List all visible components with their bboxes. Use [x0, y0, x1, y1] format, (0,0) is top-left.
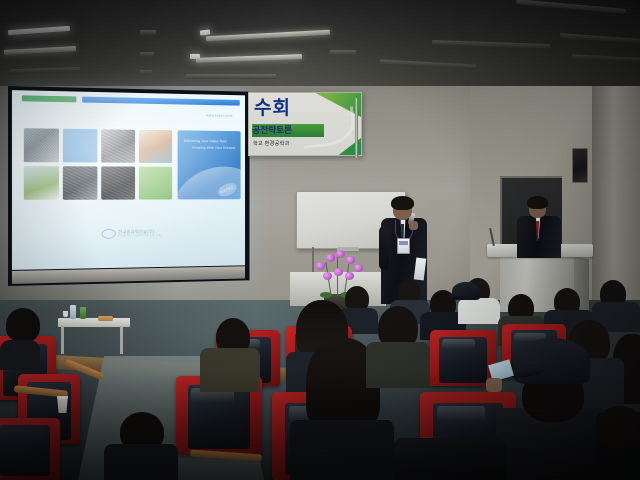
slide-thumbnail-grid: Delivering Your Value Now Growing With Y… [24, 128, 236, 202]
orchid-flower [345, 272, 354, 280]
seat-cushion [0, 425, 50, 476]
slide-tagline-text: Delivering Your Value Now Growing With Y… [184, 138, 235, 152]
projected-slide: www.kapec.com Delivering Your Value Now … [12, 90, 245, 270]
ceiling-light [516, 0, 626, 14]
presenter-hair [527, 196, 548, 209]
head-back [596, 406, 640, 448]
company-name-en: KOREA NUCLEAR FUEL CO., LTD. [118, 234, 162, 238]
ceiling-light [560, 33, 640, 44]
slide-thumbnail [139, 167, 172, 200]
slide-thumbnail [63, 129, 98, 163]
slide-thumbnail [24, 128, 59, 162]
slide-thumbnail [101, 129, 135, 162]
ceiling-light [10, 67, 80, 74]
name-badge [397, 238, 410, 254]
head-back [6, 308, 40, 342]
slide-band-green [22, 95, 77, 102]
wall-speaker [572, 148, 588, 183]
tagline-line-2: Growing With Your Dreams [192, 145, 235, 152]
ceiling-light [380, 59, 476, 69]
company-logo-icon [101, 229, 115, 239]
orchid-flower [346, 256, 355, 264]
slide-band-blue [82, 97, 240, 106]
snack-plate [98, 316, 113, 321]
orchid-flower [334, 268, 343, 276]
ceiling-light [140, 70, 152, 75]
orchid-leaf [320, 292, 332, 298]
orchid-flower [316, 262, 325, 270]
ceiling [0, 0, 640, 92]
orchid-stem [337, 256, 338, 296]
presenter-hair [391, 196, 414, 210]
auditorium-photo: www.kapec.com Delivering Your Value Now … [0, 0, 640, 480]
ceiling-light [190, 54, 200, 59]
shoulders [290, 420, 394, 480]
slide-thumbnail [139, 130, 172, 163]
ceiling-light [4, 46, 76, 55]
presenter-arm [379, 226, 389, 270]
jacket [394, 438, 506, 480]
seat-highlight [437, 406, 485, 422]
company-name: 한국원자력연료(주) KOREA NUCLEAR FUEL CO., LTD. [118, 229, 162, 238]
presenter-hand [409, 221, 418, 230]
table-leg [120, 326, 123, 354]
auditorium-seat [430, 330, 496, 386]
slide-tagline-panel: Delivering Your Value Now Growing With Y… [178, 130, 241, 199]
projection-screen: www.kapec.com Delivering Your Value Now … [8, 86, 249, 286]
shoulders [0, 340, 40, 370]
shoulders [458, 298, 500, 324]
water-bottle [70, 305, 76, 319]
ceiling-light [186, 74, 276, 79]
ceiling-light [572, 54, 640, 63]
banner-strip-text: 공전략토론 [252, 124, 326, 137]
wall-banner: 수회 공전략토론 학교 환경공학과 [248, 92, 362, 156]
shoulders [366, 342, 430, 388]
ceiling-light [196, 54, 302, 63]
ceiling-light [206, 30, 330, 41]
slide-url-text: www.kapec.com [206, 114, 232, 118]
podium-presenter [516, 196, 562, 258]
hand [486, 378, 502, 392]
ceiling-light [330, 50, 356, 55]
ceiling-light [140, 30, 156, 35]
ceiling-light [432, 40, 550, 49]
refreshment-table [58, 318, 130, 344]
banner-subtitle: 학교 환경공학과 [253, 140, 289, 147]
ceiling-light [200, 29, 211, 35]
cap-brim [448, 294, 470, 299]
auditorium-seat [0, 418, 60, 480]
seat-highlight [442, 339, 475, 349]
shoulders [104, 444, 178, 480]
orchid-flower [326, 254, 335, 262]
green-bottle [80, 307, 86, 319]
slide-thumbnail [101, 166, 135, 199]
slide-company-logo: 한국원자력연료(주) KOREA NUCLEAR FUEL CO., LTD. [101, 228, 162, 238]
slide-thumbnail [24, 166, 59, 200]
ceiling-light [140, 52, 154, 57]
orchid-flower [323, 272, 332, 280]
banner-support-pole [355, 98, 358, 158]
paper-cup [63, 311, 68, 317]
banner-title: 수회 [254, 99, 291, 118]
orchid-flower [354, 264, 363, 272]
orchid-flower [336, 250, 345, 258]
shoulders [200, 348, 260, 392]
table-leg [61, 326, 64, 354]
ceiling-light [8, 26, 70, 35]
slide-thumbnail [63, 166, 98, 200]
